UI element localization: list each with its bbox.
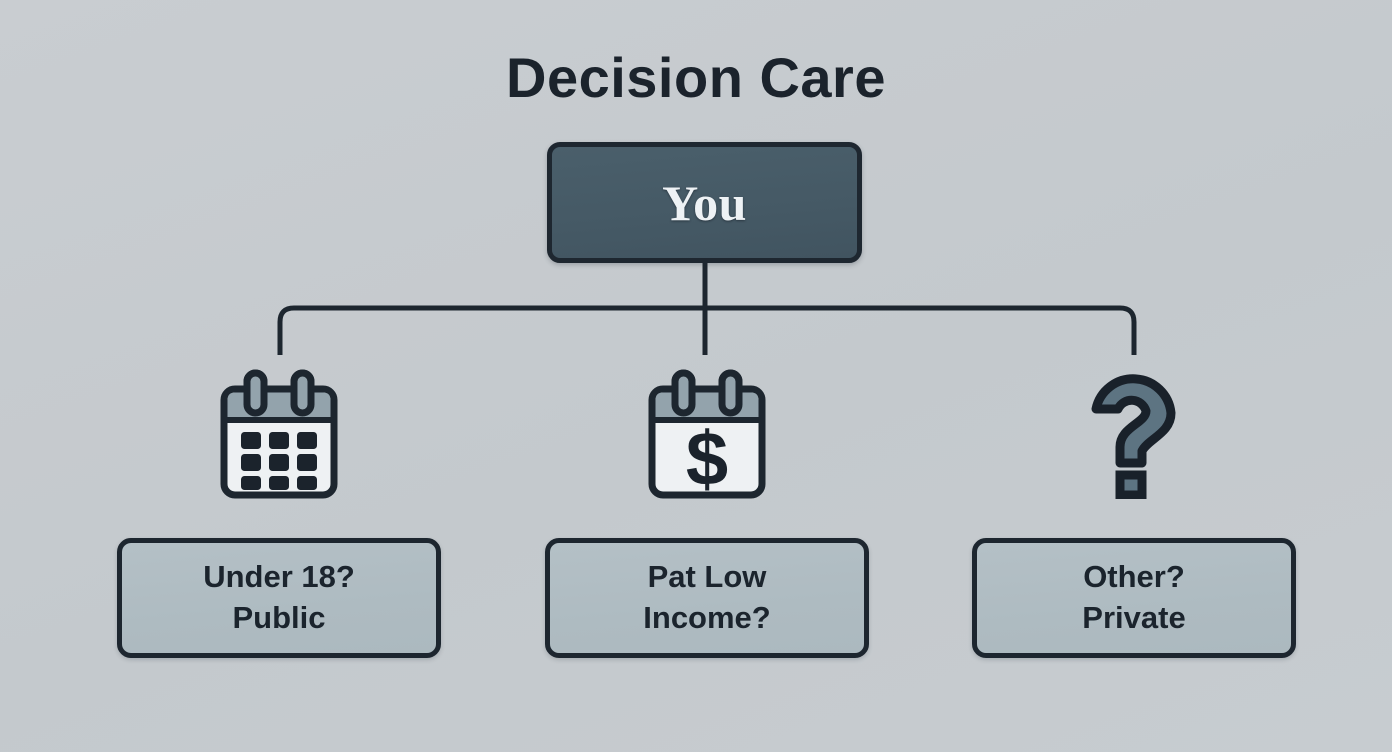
leaf-box[interactable]: Pat Low Income? — [545, 538, 869, 658]
root-node-label: You — [662, 174, 747, 232]
leaf-label-line2: Public — [232, 598, 325, 639]
root-node[interactable]: You — [547, 142, 862, 263]
leaf-label-line2: Private — [1082, 598, 1185, 639]
leaf-label-line1: Under 18? — [203, 557, 355, 598]
svg-text:$: $ — [686, 417, 728, 502]
branch-low-income[interactable]: $ Pat Low Income? — [545, 365, 869, 658]
leaf-label-line2: Income? — [643, 598, 770, 639]
leaf-label-line1: Pat Low — [648, 557, 767, 598]
question-mark-icon — [1082, 371, 1186, 499]
leaf-box[interactable]: Other? Private — [972, 538, 1296, 658]
decision-tree-diagram: Decision Care — [0, 0, 1392, 752]
leaf-label-line1: Other? — [1083, 557, 1185, 598]
branch-icon-slot — [117, 365, 441, 505]
calendar-dollar-icon: $ — [642, 367, 772, 503]
leaf-box[interactable]: Under 18? Public — [117, 538, 441, 658]
branch-under-18[interactable]: Under 18? Public — [117, 365, 441, 658]
branch-other[interactable]: Other? Private — [972, 365, 1296, 658]
branch-icon-slot — [972, 365, 1296, 505]
calendar-grid-icon — [214, 367, 344, 503]
branch-icon-slot: $ — [545, 365, 869, 505]
